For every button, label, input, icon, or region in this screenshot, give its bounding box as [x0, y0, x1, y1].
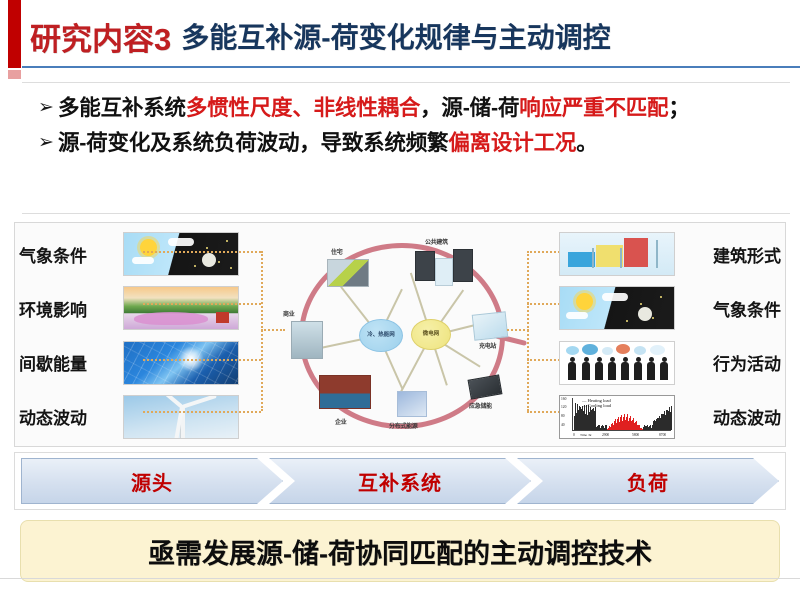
environment-thumb-icon: [123, 286, 239, 330]
chevron-load[interactable]: 负荷: [517, 458, 779, 504]
bullet-seg: 多能互补系统: [58, 96, 186, 120]
x-tick: 2900: [602, 433, 609, 437]
bullet-seg: 源-荷变化及系统负荷波动，导致系统频繁: [58, 131, 448, 155]
arrow-bullet-icon: ➢: [32, 128, 58, 158]
load-factor-label: 气象条件: [685, 296, 781, 321]
x-axis-label: Time /hr: [580, 433, 592, 437]
source-factor-item: 间歇能量: [19, 338, 274, 388]
bullet-panel: ➢ 多能互补系统多惯性尺度、非线性耦合，源-储-荷响应严重不匹配； ➢ 源-荷变…: [22, 82, 790, 214]
load-factor-item: 建筑形式: [526, 229, 781, 279]
conclusion-banner: 亟需发展源-储-荷协同匹配的主动调控技术: [20, 520, 780, 582]
page-title: 多能互补源-荷变化规律与主动调控: [181, 16, 610, 56]
x-tick: 8700: [659, 433, 666, 437]
arrow-bullet-icon: ➢: [32, 93, 58, 123]
peripheral-label: 公共建筑: [425, 237, 448, 246]
thermal-network-node-label: 冷、热能网: [367, 332, 395, 339]
page-title-number: 研究内容3: [30, 14, 171, 59]
slide-header: 研究内容3 多能互补源-荷变化规律与主动调控: [30, 8, 790, 64]
bullet-text-2: 源-荷变化及系统负荷波动，导致系统频繁偏离设计工况。: [58, 128, 598, 159]
connector-left-1: [143, 251, 261, 253]
load-factor-item: — Heating load — Cooling load 160 120 80…: [526, 392, 781, 442]
conclusion-banner-text: 亟需发展源-储-荷协同匹配的主动调控技术: [148, 532, 652, 571]
people-activity-thumb-icon: [559, 341, 675, 385]
diagram-panel: 气象条件 环境影响 间歇能量: [14, 222, 786, 447]
source-factor-item: 环境影响: [19, 283, 274, 333]
load-factor-label: 行为活动: [685, 350, 781, 375]
microgrid-schematic: 冷、热能网 微电网 住宅 公共建筑 商业 充电站 应急储能 分布式能源 企业: [283, 225, 523, 446]
process-chevron-band: 源头 互补系统 负荷: [14, 452, 786, 510]
chevron-source[interactable]: 源头: [21, 458, 283, 504]
commercial-building-icon: [291, 321, 323, 359]
public-building-icon-a: [415, 251, 435, 281]
enterprise-icon: [319, 375, 371, 409]
load-factor-item: 气象条件: [526, 283, 781, 333]
peripheral-label: 企业: [335, 417, 346, 426]
connector-left-2: [143, 303, 261, 305]
connector-left-3: [143, 359, 261, 361]
y-tick: 80: [561, 414, 565, 418]
chevron-complementary-system-label: 互补系统: [358, 467, 442, 496]
connector-left-4: [143, 411, 261, 413]
public-building-icon-b: [435, 258, 453, 286]
y-tick: 120: [561, 405, 566, 409]
bullet-text-1: 多能互补系统多惯性尺度、非线性耦合，源-储-荷响应严重不匹配；: [58, 93, 690, 124]
peripheral-label: 商业: [283, 309, 294, 318]
thermal-network-node: 冷、热能网: [359, 319, 403, 352]
residential-building-icon: [327, 259, 369, 287]
solar-panel-thumb-icon: [123, 341, 239, 385]
header-accent-bar: [8, 0, 21, 68]
daynight-thumb-icon: [559, 286, 675, 330]
peripheral-label: 充电站: [479, 341, 496, 350]
bullet-seg: ，源-储-荷: [420, 96, 519, 120]
x-tick: 5800: [632, 433, 639, 437]
emergency-storage-icon: [468, 374, 503, 399]
bullet-seg: ；: [668, 96, 689, 120]
chevron-complementary-system[interactable]: 互补系统: [269, 458, 531, 504]
public-building-icon-c: [453, 249, 473, 282]
header-divider: [22, 66, 800, 68]
load-chart-thumb-icon: — Heating load — Cooling load 160 120 80…: [559, 395, 675, 439]
distributed-energy-icon: [397, 391, 427, 417]
bullet-seg: 。: [576, 131, 597, 155]
connector-left-trunk: [261, 251, 263, 411]
bullet-seg-highlight: 响应严重不匹配: [519, 96, 668, 120]
charging-station-icon: [472, 311, 509, 340]
load-factor-label: 动态波动: [685, 404, 781, 429]
peripheral-label: 分布式能源: [389, 421, 418, 430]
header-accent-bar-secondary: [8, 70, 21, 79]
source-factor-item: 动态波动: [19, 392, 274, 442]
source-factor-item: 气象条件: [19, 229, 274, 279]
source-factor-label: 动态波动: [19, 404, 115, 429]
chevron-load-label: 负荷: [627, 467, 669, 496]
bullet-item-2: ➢ 源-荷变化及系统负荷波动，导致系统频繁偏离设计工况。: [32, 128, 784, 159]
load-factor-column: 建筑形式 气象条件: [526, 227, 781, 444]
wind-turbine-thumb-icon: [123, 395, 239, 439]
bullet-seg-highlight: 偏离设计工况: [448, 131, 576, 155]
x-tick: 0: [573, 433, 575, 437]
source-factor-label: 环境影响: [19, 296, 115, 321]
connector-left-stub: [261, 329, 285, 331]
chevron-source-label: 源头: [131, 467, 173, 496]
load-factor-label: 建筑形式: [685, 242, 781, 267]
bullet-seg-highlight: 多惯性尺度、非线性耦合: [186, 96, 420, 120]
y-tick: 160: [561, 397, 566, 401]
daynight-thumb-icon: [123, 232, 239, 276]
slide-root: 研究内容3 多能互补源-荷变化规律与主动调控 ➢ 多能互补系统多惯性尺度、非线性…: [0, 0, 800, 600]
source-factor-label: 气象条件: [19, 242, 115, 267]
peripheral-label: 住宅: [331, 247, 342, 256]
legend-entry-heating: Heating load: [588, 398, 611, 403]
building-blocks-thumb-icon: [559, 232, 675, 276]
y-tick: 40: [561, 423, 565, 427]
peripheral-label: 应急储能: [469, 401, 492, 410]
footer-divider: [0, 578, 800, 579]
load-factor-item: 行为活动: [526, 338, 781, 388]
microgrid-node-label: 微电网: [423, 331, 440, 338]
microgrid-node: 微电网: [411, 319, 451, 350]
source-factor-label: 间歇能量: [19, 350, 115, 375]
bullet-item-1: ➢ 多能互补系统多惯性尺度、非线性耦合，源-储-荷响应严重不匹配；: [32, 93, 784, 124]
